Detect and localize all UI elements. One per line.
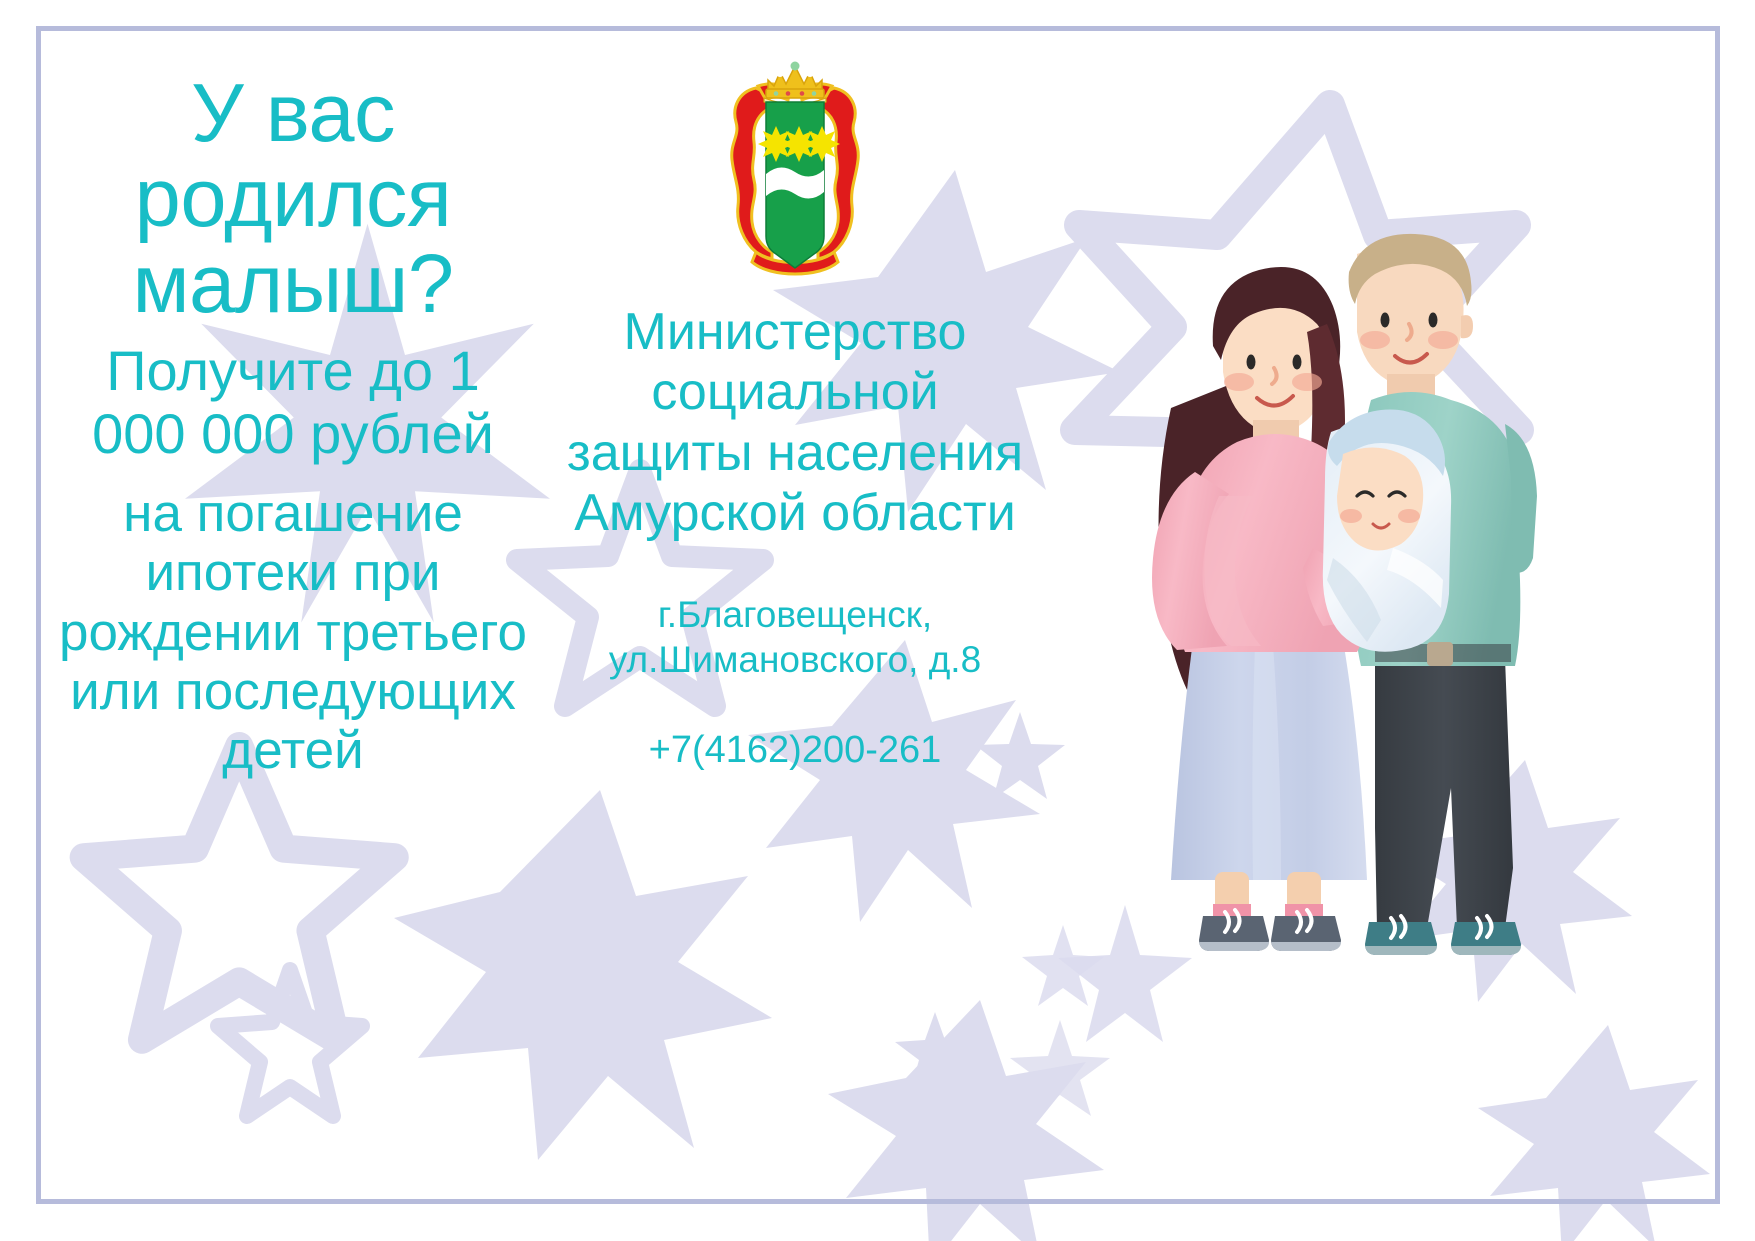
organization-name: Министерство социальной защиты населения…: [560, 302, 1030, 543]
center-column: Министерство социальной защиты населения…: [560, 56, 1030, 774]
contact-phone: +7(4162)200-261: [560, 728, 1030, 774]
emblem-container: [560, 56, 1030, 286]
benefit-conditions-text: на погашение ипотеки при рождении третье…: [58, 484, 528, 781]
left-text-column: У вас родился малыш? Получите до 1 000 0…: [58, 70, 528, 781]
family-with-newborn-illustration: [1075, 228, 1635, 1018]
crown-part: [764, 62, 826, 109]
amur-oblast-coat-of-arms-icon: [710, 56, 880, 286]
office-address: г.Благовещенск, ул.Шимановского, д.8: [560, 593, 1030, 682]
poster: У вас родился малыш? Получите до 1 000 0…: [0, 0, 1755, 1241]
benefit-amount-text: Получите до 1 000 000 рублей: [58, 340, 528, 465]
baby-figure: [1323, 410, 1451, 652]
page-title: У вас родился малыш?: [58, 70, 528, 326]
